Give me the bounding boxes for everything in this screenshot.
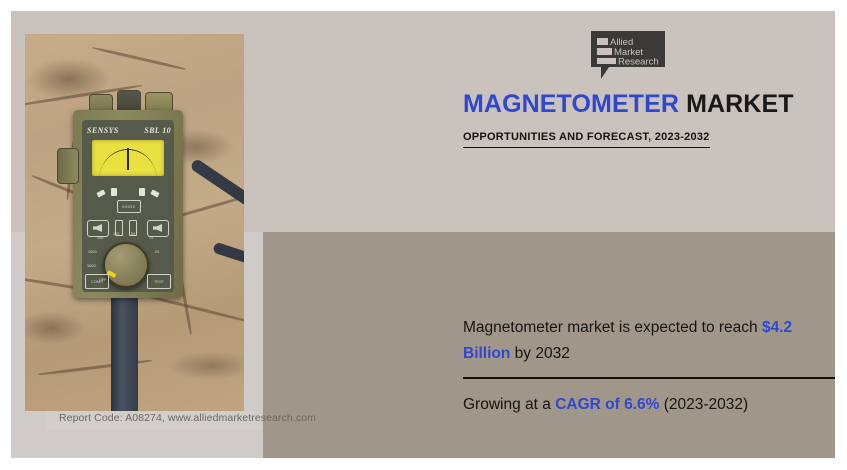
speaker-right-icon [147,220,169,237]
stat-market-size: Magnetometer market is expected to reach… [463,315,823,367]
dial-scale-label: 200 [97,236,104,240]
report-code-caption: Report Code: A08274, www.alliedmarketres… [59,412,316,424]
analog-gauge [92,140,164,176]
page-subtitle: OPPORTUNITIES AND FORECAST, 2023-2032 [463,131,710,148]
stat-suffix: by 2032 [510,345,569,362]
page-title: MAGNETOMETER MARKET [463,90,794,119]
test-button: TEST [147,274,171,289]
stat-cagr: Growing at a CAGR of 6.6% (2023-2032) [463,396,748,414]
device-brand-label: SENSYS [87,126,119,135]
toggle-switch-left [96,189,105,197]
toggle-switch-center-left [111,188,117,196]
comp-button: COMP [85,274,109,289]
stat-suffix: (2023-2032) [659,396,748,413]
dial-scale-label: 20 [155,250,159,254]
device-model-label: SBL 10 [144,126,171,135]
allied-market-research-logo: Allied Market Research [589,29,667,81]
dial-scale-label: 50 [131,232,135,236]
dial-scale-label: 3000 [87,264,96,268]
toggle-switch-right [150,189,159,197]
device-pole [111,292,138,411]
switch-panel: MODE [87,186,169,216]
magnetometer-device: SENSYS SBL 10 MODE 200 70 1000 [73,90,183,298]
title-highlight: MAGNETOMETER [463,90,679,118]
svg-text:Research: Research [618,57,659,68]
speaker-left-icon [87,220,109,237]
toggle-switch-center-right [139,188,145,196]
title-rest: MARKET [679,90,794,118]
stat-prefix: Magnetometer market is expected to reach [463,319,762,336]
side-knob [57,148,79,184]
report-banner: SENSYS SBL 10 MODE 200 70 1000 [0,0,847,470]
section-divider [463,377,835,379]
mode-button-label: MODE [117,200,141,213]
dial-scale-label: 1000 [88,250,97,254]
dial-scale-label: 100 [113,232,120,236]
gauge-needle [127,148,129,170]
stat-value: CAGR of 6.6% [555,396,659,413]
stat-prefix: Growing at a [463,396,555,413]
rotary-dial [103,242,149,288]
magnetometer-photo: SENSYS SBL 10 MODE 200 70 1000 [25,34,244,411]
dial-scale-label: 70 [149,236,153,240]
